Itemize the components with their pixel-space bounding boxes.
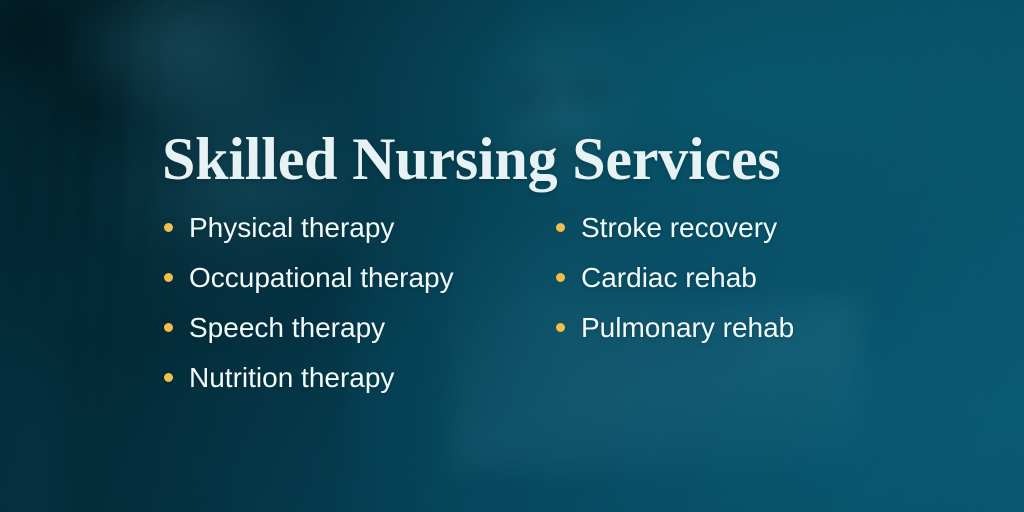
dot-bullet-icon xyxy=(164,373,173,382)
list-item-label: Pulmonary rehab xyxy=(581,314,794,342)
list-item-label: Cardiac rehab xyxy=(581,264,757,292)
list-item-label: Stroke recovery xyxy=(581,214,777,242)
dot-bullet-icon xyxy=(164,323,173,332)
banner-content: Skilled Nursing Services Physical therap… xyxy=(162,0,942,512)
list-item-label: Physical therapy xyxy=(189,214,394,242)
dot-bullet-icon xyxy=(556,223,565,232)
page-title: Skilled Nursing Services xyxy=(162,127,781,192)
list-item-label: Speech therapy xyxy=(189,314,385,342)
list-item: Nutrition therapy xyxy=(164,364,556,414)
list-item-label: Occupational therapy xyxy=(189,264,454,292)
list-item: Speech therapy xyxy=(164,314,556,364)
dot-bullet-icon xyxy=(556,273,565,282)
list-item: Occupational therapy xyxy=(164,264,556,314)
dot-bullet-icon xyxy=(556,323,565,332)
list-item: Pulmonary rehab xyxy=(556,314,936,364)
dot-bullet-icon xyxy=(164,273,173,282)
left-column: Physical therapy Occupational therapy Sp… xyxy=(164,214,556,414)
skilled-nursing-services-banner: Skilled Nursing Services Physical therap… xyxy=(0,0,1024,512)
dot-bullet-icon xyxy=(164,223,173,232)
right-column: Stroke recovery Cardiac rehab Pulmonary … xyxy=(556,214,936,414)
services-list: Physical therapy Occupational therapy Sp… xyxy=(164,214,936,414)
list-item-label: Nutrition therapy xyxy=(189,364,394,392)
list-item: Cardiac rehab xyxy=(556,264,936,314)
list-item: Stroke recovery xyxy=(556,214,936,264)
list-item: Physical therapy xyxy=(164,214,556,264)
